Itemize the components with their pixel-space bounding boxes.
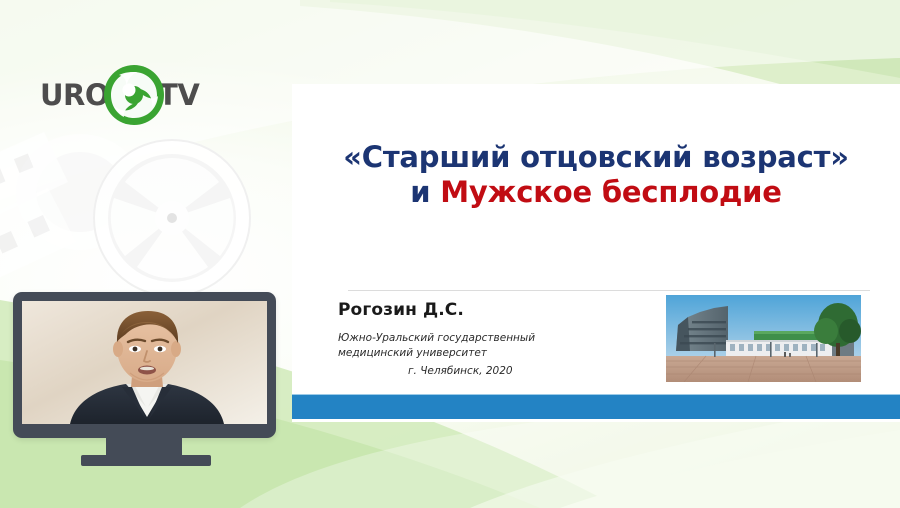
slide-title-conjunction: и xyxy=(410,175,440,209)
slide-divider xyxy=(348,290,870,291)
author-city-year: г. Челябинск, 2020 xyxy=(408,365,668,377)
presentation-slide: «Старший отцовский возраст» и Мужское бе… xyxy=(292,84,900,422)
aperture-swirl-icon xyxy=(103,64,165,126)
urotv-logo[interactable]: URO TV xyxy=(40,62,200,128)
author-name: Рогозин Д.С. xyxy=(338,300,668,320)
monitor-stand-base xyxy=(81,455,211,466)
presenter-webcam-feed xyxy=(22,301,267,424)
slide-title-emphasis: Мужское бесплодие xyxy=(440,175,782,209)
author-affiliation: Южно-Уральский государственный медицинск… xyxy=(338,331,606,361)
presenter-video-monitor[interactable] xyxy=(13,292,276,438)
slide-title-line2: и Мужское бесплодие xyxy=(292,175,900,210)
logo-text-uro: URO xyxy=(40,81,109,110)
video-screen[interactable] xyxy=(22,301,267,424)
slide-accent-bar xyxy=(292,394,900,419)
presentation-screenshot: URO TV xyxy=(0,0,900,508)
slide-title-line1: «Старший отцовский возраст» xyxy=(292,140,900,175)
monitor-stand-neck xyxy=(106,438,182,455)
slide-title: «Старший отцовский возраст» и Мужское бе… xyxy=(292,140,900,211)
author-block: Рогозин Д.С. Южно-Уральский государствен… xyxy=(338,300,668,377)
university-building-photo xyxy=(666,295,861,382)
